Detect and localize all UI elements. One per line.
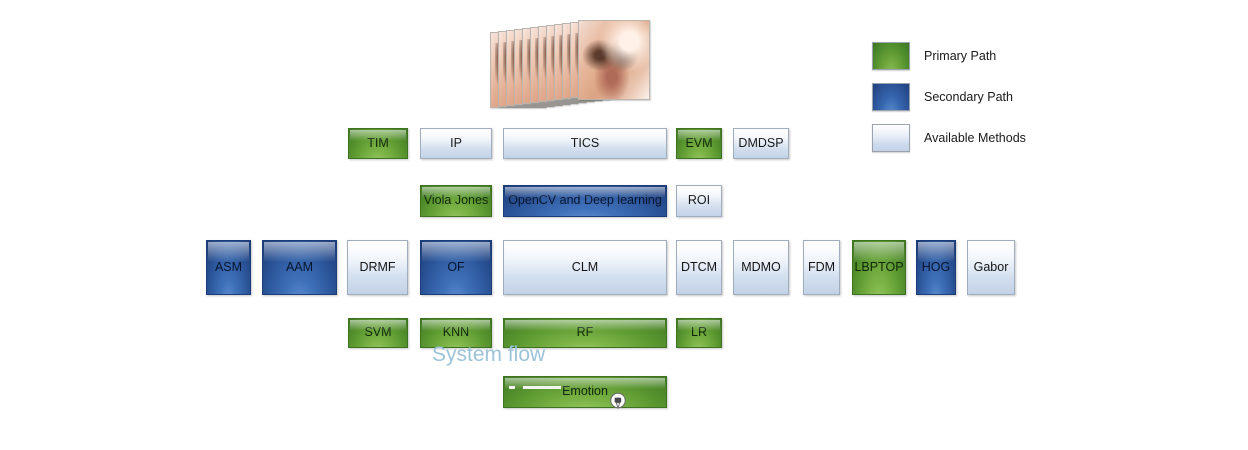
- legend-label: Primary Path: [924, 49, 996, 63]
- flow-box-fdm[interactable]: FDM: [803, 240, 840, 295]
- flow-box-drmf[interactable]: DRMF: [347, 240, 408, 295]
- face-frame-front: [578, 20, 650, 100]
- legend-swatch-icon: [872, 42, 910, 70]
- system-flow-caption: System flow: [432, 343, 545, 367]
- flow-box-lbptop[interactable]: LBPTOP: [852, 240, 906, 295]
- legend-swatch-icon: [872, 83, 910, 111]
- flow-box-dtcm[interactable]: DTCM: [676, 240, 722, 295]
- face-image-stack: [490, 18, 650, 108]
- flow-box-tim[interactable]: TIM: [348, 128, 408, 159]
- flow-box-dmdsp[interactable]: DMDSP: [733, 128, 789, 159]
- flow-box-tics[interactable]: TICS: [503, 128, 667, 159]
- legend-label: Available Methods: [924, 131, 1026, 145]
- legend-item: Primary Path: [872, 42, 996, 70]
- flow-box-emotion[interactable]: Emotion: [503, 376, 667, 408]
- legend-label: Secondary Path: [924, 90, 1013, 104]
- flow-box-asm[interactable]: ASM: [206, 240, 251, 295]
- flow-box-mdmo[interactable]: MDMO: [733, 240, 789, 295]
- flow-box-aam[interactable]: AAM: [262, 240, 337, 295]
- mouse-cursor-icon: [607, 392, 629, 414]
- flow-box-of[interactable]: OF: [420, 240, 492, 295]
- flow-box-evm[interactable]: EVM: [676, 128, 722, 159]
- flow-box-opencv-and-deep-learning[interactable]: OpenCV and Deep learning: [503, 185, 667, 217]
- system-flow-diagram: Primary PathSecondary PathAvailable Meth…: [0, 0, 1248, 450]
- emotion-dash-small: [509, 386, 515, 389]
- legend-item: Secondary Path: [872, 83, 1013, 111]
- flow-box-ip[interactable]: IP: [420, 128, 492, 159]
- flow-box-roi[interactable]: ROI: [676, 185, 722, 217]
- legend-swatch-icon: [872, 124, 910, 152]
- flow-box-lr[interactable]: LR: [676, 318, 722, 348]
- flow-box-gabor[interactable]: Gabor: [967, 240, 1015, 295]
- flow-box-viola-jones[interactable]: Viola Jones: [420, 185, 492, 217]
- flow-box-clm[interactable]: CLM: [503, 240, 667, 295]
- flow-box-svm[interactable]: SVM: [348, 318, 408, 348]
- flow-box-hog[interactable]: HOG: [916, 240, 956, 295]
- legend-item: Available Methods: [872, 124, 1026, 152]
- emotion-dash-long: [523, 386, 561, 389]
